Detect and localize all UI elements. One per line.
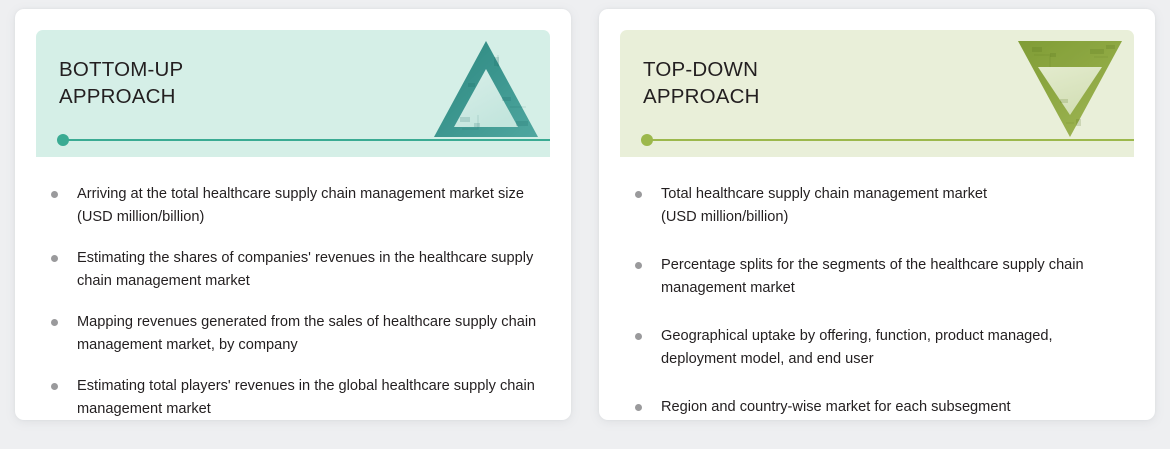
bullet-list-bottom-up: Arriving at the total healthcare supply … [15, 157, 571, 420]
card-top-down-approach: TOP-DOWN APPROACH [599, 9, 1155, 420]
upward-triangle-icon [432, 37, 540, 141]
bullet-dot-icon [51, 255, 58, 262]
list-item: Region and country-wise market for each … [635, 396, 1131, 419]
list-item: Total healthcare supply chain management… [635, 183, 1131, 229]
bullet-dot-icon [635, 333, 642, 340]
list-item-text: Arriving at the total healthcare supply … [77, 183, 547, 229]
card-title-top-down: TOP-DOWN APPROACH [643, 56, 760, 110]
list-item: Arriving at the total healthcare supply … [51, 183, 547, 229]
card-title-bottom-up: BOTTOM-UP APPROACH [59, 56, 183, 110]
list-item: Mapping revenues generated from the sale… [51, 311, 547, 357]
card-header-top-down: TOP-DOWN APPROACH [620, 30, 1134, 157]
bullet-list-top-down: Total healthcare supply chain management… [599, 157, 1155, 419]
list-item-text: Percentage splits for the segments of th… [661, 254, 1131, 300]
card-bottom-up-approach: BOTTOM-UP APPROACH [15, 9, 571, 420]
bullet-dot-icon [635, 404, 642, 411]
list-item-text: Total healthcare supply chain management… [661, 183, 1131, 229]
downward-triangle-icon [1016, 37, 1124, 141]
list-item-text: Estimating total players' revenues in th… [77, 375, 547, 420]
card-header-bottom-up: BOTTOM-UP APPROACH [36, 30, 550, 157]
bullet-dot-icon [51, 383, 58, 390]
bullet-dot-icon [51, 319, 58, 326]
list-item: Geographical uptake by offering, functio… [635, 325, 1131, 371]
bullet-dot-icon [51, 191, 58, 198]
accent-dot-teal [57, 134, 69, 146]
bullet-dot-icon [635, 262, 642, 269]
bullet-dot-icon [635, 191, 642, 198]
approach-comparison-board: BOTTOM-UP APPROACH [0, 0, 1170, 449]
accent-line-green [643, 139, 1134, 141]
list-item-text: Mapping revenues generated from the sale… [77, 311, 547, 357]
list-item: Estimating the shares of companies' reve… [51, 247, 547, 293]
list-item: Percentage splits for the segments of th… [635, 254, 1131, 300]
list-item: Estimating total players' revenues in th… [51, 375, 547, 420]
list-item-text: Region and country-wise market for each … [661, 396, 1131, 419]
accent-line-teal [59, 139, 550, 141]
list-item-text: Geographical uptake by offering, functio… [661, 325, 1131, 371]
list-item-text: Estimating the shares of companies' reve… [77, 247, 547, 293]
accent-dot-green [641, 134, 653, 146]
